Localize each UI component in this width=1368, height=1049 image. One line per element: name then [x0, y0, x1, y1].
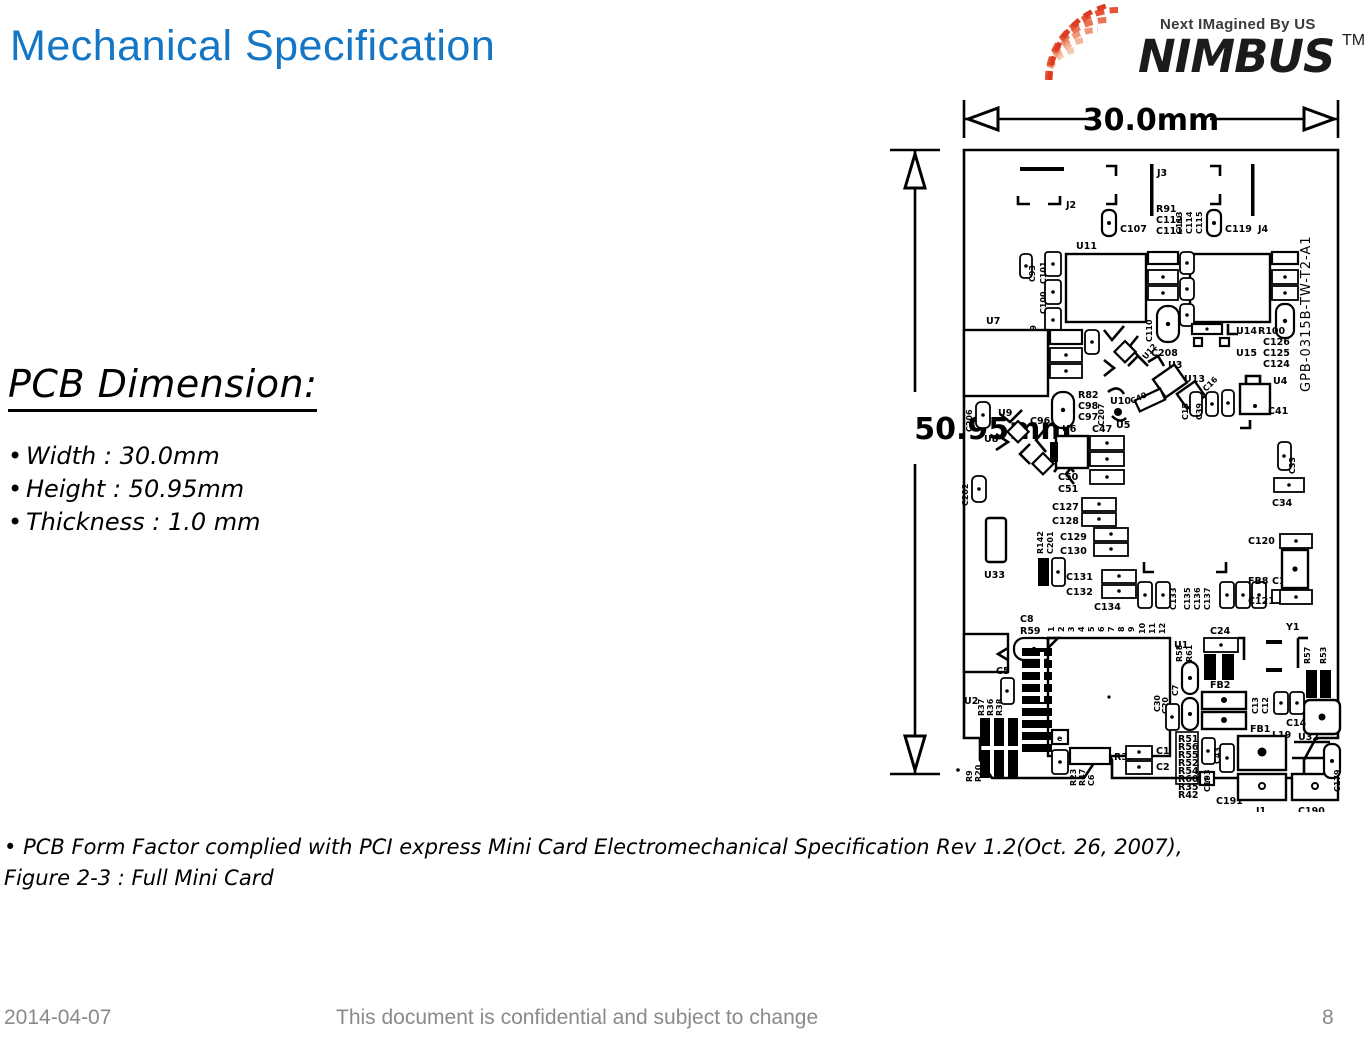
refdes-C12: C12 [1261, 697, 1270, 714]
note-bullet: • [4, 835, 16, 859]
refdes-R37: R37 [977, 699, 986, 716]
top-edge-components: J2 C107 C119 J3 J4 R91 C112 C111 C113 C1… [1018, 164, 1269, 237]
refdes-C13: C13 [1251, 697, 1260, 714]
refdes-U6: U6 [1062, 424, 1077, 435]
refdes-C130: C130 [1060, 546, 1087, 557]
refdes-C98: C98 [1078, 401, 1099, 412]
refdes-FB2: FB2 [1210, 680, 1230, 691]
refdes-U11: U11 [1076, 241, 1097, 252]
refdes-C47: C47 [1092, 424, 1112, 435]
center-components: U7 U12 U3 U13 [964, 316, 1288, 484]
refdes-R53: R53 [1319, 647, 1328, 664]
dimension-list: Width : 30.0mm Height : 50.95mm Thicknes… [8, 440, 261, 539]
list-item: Height : 50.95mm [8, 473, 261, 506]
refdes-R9: R9 [965, 770, 974, 782]
svg-text:1: 1 [1047, 626, 1056, 632]
refdes-U33: U33 [984, 570, 1005, 581]
refdes-R58: R58 [1175, 644, 1184, 662]
u6-cluster: U6 C47 U5 C50 C51 [1050, 420, 1130, 495]
pcb-dimension-heading: PCB Dimension: [8, 362, 317, 406]
refdes-C113: C113 [1175, 211, 1184, 234]
refdes-R82: R82 [1078, 390, 1099, 401]
svg-text:6: 6 [1097, 626, 1106, 632]
refdes-C1: C1 [1156, 746, 1170, 757]
refdes-C190: C190 [1298, 806, 1325, 812]
refdes-R142: R142 [1036, 531, 1045, 554]
refdes-C51: C51 [1058, 484, 1078, 495]
svg-text:e: e [1057, 734, 1063, 743]
refdes-R57: R57 [1303, 647, 1312, 664]
refdes-C134: C134 [1094, 602, 1121, 613]
right-bottom-components: R58 R61 C24 C7 C20 C30 FB2 FB1 L19 R51 R… [1153, 622, 1342, 812]
page-title: Mechanical Specification [10, 22, 495, 71]
refdes-C110: C110 [1145, 319, 1154, 342]
refdes-C115: C115 [1195, 211, 1204, 234]
refdes-FB1: FB1 [1250, 724, 1270, 735]
form-factor-note: • PCB Form Factor complied with PCI expr… [4, 832, 1244, 894]
footer-page-number: 8 [1322, 1006, 1334, 1030]
refdes-C126: C126 [1263, 337, 1290, 348]
refdes-C133: C133 [1169, 587, 1178, 610]
refdes-C96: C96 [1030, 416, 1051, 427]
refdes-C2: C2 [1156, 762, 1170, 773]
page-footer: 2014-04-07 This document is confidential… [0, 1006, 1368, 1046]
refdes-C120: C120 [1248, 536, 1275, 547]
refdes-C202: C202 [961, 483, 970, 506]
refdes-C41: C41 [1268, 406, 1288, 417]
refdes-C135: C135 [1183, 587, 1192, 610]
refdes-C132: C132 [1066, 587, 1093, 598]
refdes-R20: R20 [974, 764, 983, 782]
refdes-C131: C131 [1066, 572, 1093, 583]
logo-wordmark: NIMBUS [1138, 30, 1334, 83]
refdes-R100: R100 [1258, 326, 1286, 337]
refdes-R59: R59 [1020, 626, 1041, 637]
refdes-C129: C129 [1060, 532, 1087, 543]
refdes-FB8: FB8 [1248, 576, 1269, 587]
refdes-R61: R61 [1185, 644, 1194, 662]
refdes-R42: R42 [1178, 790, 1199, 801]
refdes-U9: U9 [998, 408, 1012, 419]
refdes-R23: R23 [1069, 769, 1078, 786]
pcb-dimension-heading-text: PCB Dimension: [8, 362, 317, 412]
svg-text:5: 5 [1087, 626, 1096, 632]
refdes-C107: C107 [1120, 224, 1147, 235]
refdes-C124: C124 [1263, 359, 1290, 370]
svg-text:8: 8 [1117, 626, 1126, 632]
refdes-U15: U15 [1236, 348, 1257, 359]
refdes-C136: C136 [1193, 587, 1202, 610]
refdes-C6: C6 [1087, 774, 1096, 786]
refdes-J3: J3 [1156, 168, 1167, 179]
refdes-C34: C34 [1272, 498, 1293, 509]
refdes-U8: U8 [984, 434, 999, 445]
refdes-R36: R36 [986, 698, 995, 716]
list-item: Thickness : 1.0 mm [8, 506, 261, 539]
refdes-U5: U5 [1116, 420, 1130, 431]
refdes-C128: C128 [1052, 516, 1079, 527]
refdes-C8: C8 [1020, 614, 1034, 625]
svg-text:12: 12 [1158, 623, 1167, 634]
refdes-J2: J2 [1065, 200, 1076, 211]
refdes-C15: C15 [1181, 403, 1190, 420]
list-item: Width : 30.0mm [8, 440, 261, 473]
refdes-C30: C30 [1153, 695, 1162, 712]
refdes-C121: C121 [1248, 596, 1275, 607]
footer-confidential-note: This document is confidential and subjec… [336, 1006, 818, 1030]
svg-text:10: 10 [1138, 622, 1147, 634]
svg-text:4: 4 [1077, 626, 1086, 632]
brand-logo: Next IMagined By US NIMBUS TM [1020, 2, 1360, 84]
refdes-C207: C207 [1097, 403, 1106, 426]
refdes-C127: C127 [1052, 502, 1079, 513]
svg-text:2: 2 [1057, 626, 1066, 632]
refdes-C50: C50 [1058, 472, 1079, 483]
width-dimension-annotation: 30.0mm [964, 100, 1338, 138]
note-text: PCB Form Factor complied with PCI expres… [4, 835, 1183, 890]
logo-trademark: TM [1342, 32, 1365, 50]
refdes-C33: C33 [1288, 457, 1297, 474]
svg-text:11: 11 [1148, 622, 1157, 634]
refdes-C7: C7 [1171, 685, 1180, 696]
width-dimension-label: 30.0mm [1083, 103, 1220, 138]
refdes-C137: C137 [1203, 587, 1212, 610]
pcb-mechanical-drawing: 30.0mm 50.95mm GPB-0315B-TW-T2-A1 J2 C10… [880, 92, 1360, 812]
refdes-U14: U14 [1236, 326, 1257, 337]
refdes-C206: C206 [965, 409, 974, 432]
svg-text:9: 9 [1127, 626, 1136, 632]
refdes-C201: C201 [1046, 531, 1055, 554]
refdes-C119: C119 [1225, 224, 1252, 235]
footer-date: 2014-04-07 [4, 1006, 111, 1030]
refdes-C125: C125 [1263, 348, 1290, 359]
refdes-C39: C39 [1195, 403, 1204, 420]
refdes-U4: U4 [1273, 376, 1288, 387]
refdes-U10: U10 [1110, 396, 1131, 407]
refdes-C179: C179 [1333, 769, 1342, 792]
refdes-Y1: Y1 [1285, 622, 1300, 633]
refdes-C14: C14 [1286, 718, 1307, 729]
refdes-U7: U7 [986, 316, 1000, 327]
refdes-C97: C97 [1078, 412, 1098, 423]
refdes-R47: R47 [1078, 769, 1087, 786]
refdes-J1: J1 [1255, 806, 1266, 812]
refdes-C24: C24 [1210, 626, 1231, 637]
refdes-R91: R91 [1156, 204, 1177, 215]
refdes-J4: J4 [1257, 224, 1269, 235]
refdes-C5: C5 [996, 666, 1010, 677]
board-marking-label: GPB-0315B-TW-T2-A1 [1299, 235, 1314, 392]
svg-text:3: 3 [1067, 626, 1076, 632]
svg-text:7: 7 [1107, 626, 1116, 632]
refdes-C93: C93 [1028, 265, 1037, 282]
refdes-C114: C114 [1185, 211, 1194, 234]
refdes-C193: C193 [1203, 769, 1212, 792]
